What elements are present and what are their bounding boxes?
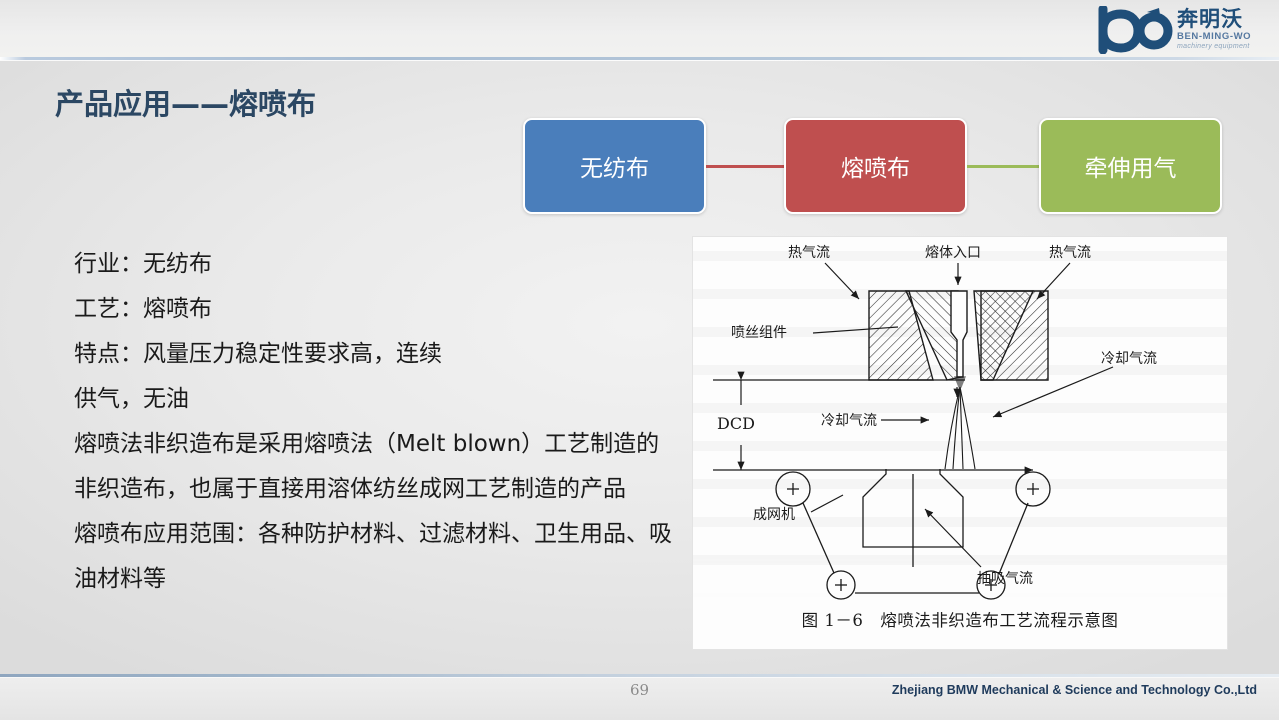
body-line: 供气，无油 xyxy=(74,377,674,422)
flow-node-label: 牵伸用气 xyxy=(1085,149,1177,183)
flow-node-nonwoven[interactable]: 无纺布 xyxy=(523,118,706,214)
figure-label-spinneret: 喷丝组件 xyxy=(731,325,787,341)
page-title: 产品应用——熔喷布 xyxy=(55,81,316,123)
header-band xyxy=(0,0,1279,58)
figure-label-web-former: 成网机 xyxy=(753,507,795,523)
figure-label-suction-air: 抽吸气流 xyxy=(977,571,1033,587)
footer-divider-highlight xyxy=(0,677,1279,678)
process-schematic-figure: DCD xyxy=(692,236,1228,650)
svg-text:DCD: DCD xyxy=(717,414,755,433)
body-line: 熔喷法非织造布是采用熔喷法（Melt blown）工艺制造的非织造布，也属于直接… xyxy=(74,422,674,512)
process-flow-diagram: 无纺布 熔喷布 牵伸用气 xyxy=(523,118,1228,214)
figure-caption: 图 1－6 熔喷法非织造布工艺流程示意图 xyxy=(693,607,1227,631)
figure-label-hot-air-left: 热气流 xyxy=(788,245,830,261)
body-line: 特点：风量压力稳定性要求高，连续 xyxy=(74,332,674,377)
body-line: 行业：无纺布 xyxy=(74,242,674,287)
flow-node-label: 无纺布 xyxy=(580,149,649,183)
flow-connector-2 xyxy=(967,165,1039,168)
body-line: 熔喷布应用范围：各种防护材料、过滤材料、卫生用品、吸油材料等 xyxy=(74,512,674,602)
company-logo: 奔明沃 BEN-MING-WO machinery equipment xyxy=(1097,6,1263,58)
flow-node-drawing-air[interactable]: 牵伸用气 xyxy=(1039,118,1222,214)
bo-monogram-icon xyxy=(1097,6,1173,54)
logo-wordmark: 奔明沃 BEN-MING-WO machinery equipment xyxy=(1177,6,1251,51)
figure-label-cooling-air-right: 冷却气流 xyxy=(1101,351,1157,367)
logo-tagline: machinery equipment xyxy=(1177,42,1250,51)
figure-label-cooling-air-center: 冷却气流 xyxy=(821,413,877,429)
logo-name-cn: 奔明沃 xyxy=(1177,8,1243,30)
body-line: 工艺：熔喷布 xyxy=(74,287,674,332)
body-text-block: 行业：无纺布 工艺：熔喷布 特点：风量压力稳定性要求高，连续 供气，无油 熔喷法… xyxy=(74,242,674,602)
figure-label-melt-inlet: 熔体入口 xyxy=(925,245,981,261)
figure-label-hot-air-right: 热气流 xyxy=(1049,245,1091,261)
logo-name-en: BEN-MING-WO xyxy=(1177,31,1251,42)
flow-connector-1 xyxy=(706,165,784,168)
flow-node-label: 熔喷布 xyxy=(841,149,910,183)
header-divider-highlight xyxy=(0,60,1279,61)
footer-company-name: Zhejiang BMW Mechanical & Science and Te… xyxy=(892,683,1257,697)
flow-node-meltblown[interactable]: 熔喷布 xyxy=(784,118,967,214)
